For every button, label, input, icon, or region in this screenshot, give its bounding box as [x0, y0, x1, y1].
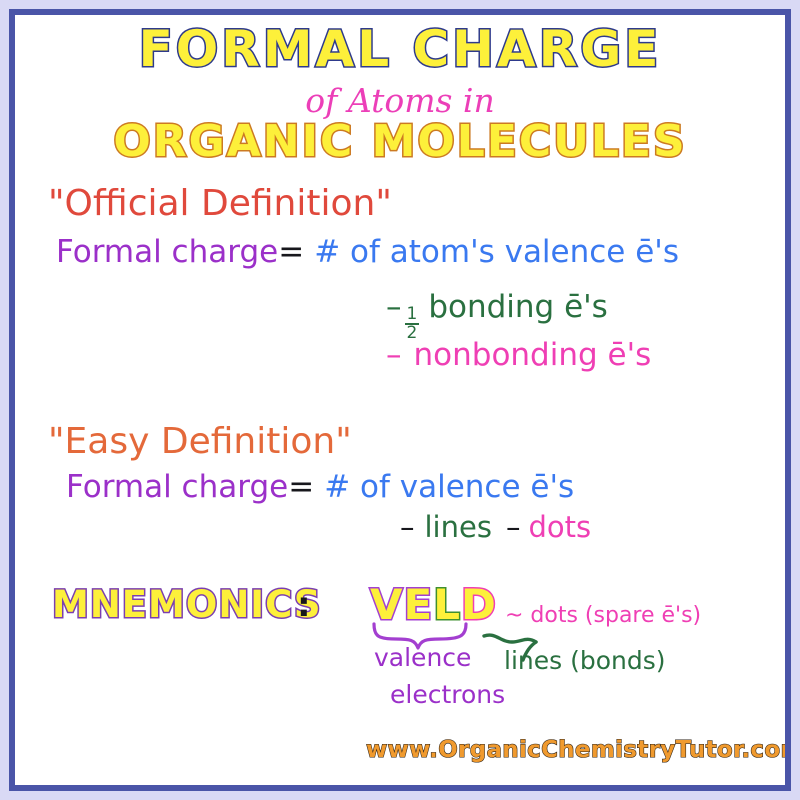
- veld-letter-e: E: [404, 580, 434, 629]
- title-of-atoms-in: of Atoms in: [305, 84, 494, 117]
- footer-website-url: www.OrganicChemistryTutor.com: [366, 739, 800, 762]
- easy-formula-line-1: Formal charge = # of valence ē's: [66, 472, 574, 503]
- fraction-numerator: 1: [405, 306, 420, 323]
- official-term2-text: bonding ē's: [422, 292, 608, 323]
- title-organic-molecules: ORGANIC MOLECULES: [113, 120, 686, 164]
- official-lhs: Formal charge: [56, 237, 278, 268]
- official-term3-minus: –: [386, 340, 402, 371]
- official-formula-line-1: Formal charge = # of atom's valence ē's: [56, 237, 679, 268]
- official-term3-text: nonbonding ē's: [402, 340, 652, 371]
- official-term2-minus: –: [386, 292, 402, 323]
- mnemonics-colon: :: [297, 588, 311, 622]
- easy-equals: =: [288, 472, 314, 503]
- heading-official-definition: "Official Definition": [48, 186, 392, 222]
- easy-term2-text: lines: [415, 513, 492, 542]
- lines-note: lines (bonds): [504, 648, 666, 673]
- veld-letter-d: D: [461, 580, 497, 629]
- poster-canvas: FORMAL CHARGE of Atoms in ORGANIC MOLECU…: [0, 0, 800, 800]
- official-equals: =: [278, 237, 304, 268]
- dots-annotation: ~ dots (spare ē's): [505, 605, 701, 627]
- official-formula-line-2: – 1 2 bonding ē's: [386, 292, 608, 341]
- heading-easy-definition: "Easy Definition": [48, 424, 352, 460]
- mnemonics-label: MNEMONICS: [52, 586, 322, 623]
- easy-term3-minus: –: [492, 513, 521, 542]
- easy-formula-line-2: – lines – dots: [400, 513, 591, 542]
- title-formal-charge: FORMAL CHARGE: [139, 24, 662, 74]
- veld-letter-l: L: [433, 580, 461, 629]
- official-formula-line-3: – nonbonding ē's: [386, 340, 651, 371]
- valence-note-line-2: electrons: [390, 682, 505, 707]
- official-rhs-term-1: # of atom's valence ē's: [304, 237, 679, 268]
- easy-lhs: Formal charge: [66, 472, 288, 503]
- easy-rhs-term-1: # of valence ē's: [314, 472, 574, 503]
- veld-letter-v: V: [370, 580, 404, 629]
- valence-note-line-1: valence: [374, 645, 471, 670]
- veld-acronym: VELD: [370, 584, 497, 626]
- easy-term3-text: dots: [520, 513, 591, 542]
- easy-term2-minus: –: [400, 513, 415, 542]
